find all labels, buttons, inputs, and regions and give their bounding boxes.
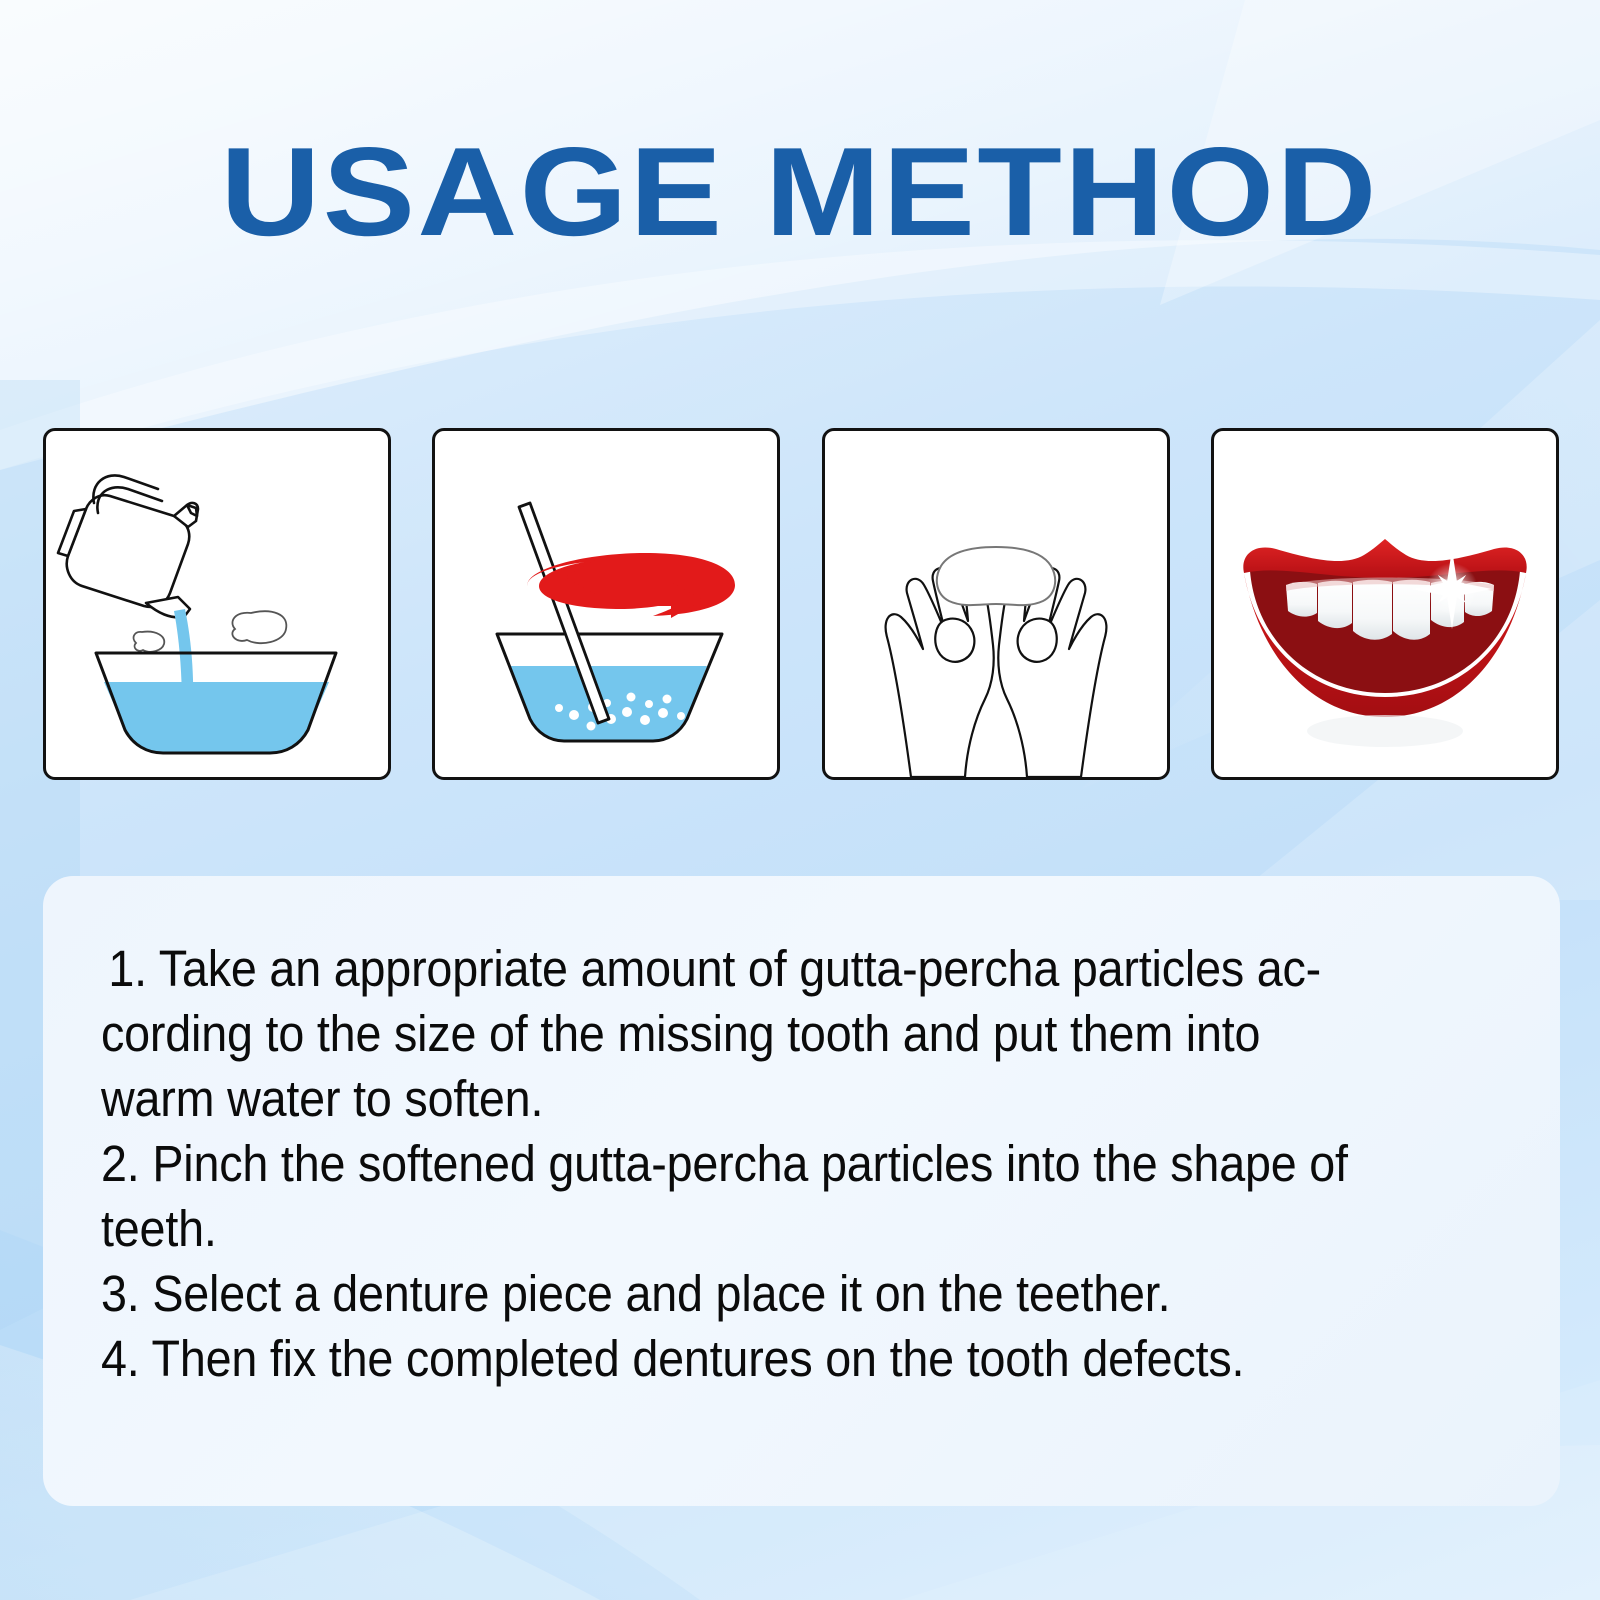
instruction-line-7: 4. Then fix the completed dentures on th… bbox=[101, 1326, 1510, 1391]
left-thumb bbox=[935, 619, 974, 662]
step-panel-1 bbox=[43, 428, 391, 780]
smiling-mouth-with-teeth-icon bbox=[1214, 431, 1556, 777]
instructions-card: 1. Take an appropriate amount of gutta-p… bbox=[43, 876, 1560, 1506]
usage-method-infographic: USAGE METHOD bbox=[0, 0, 1600, 1600]
right-thumb bbox=[1017, 619, 1056, 662]
steam-puff-right bbox=[232, 611, 286, 643]
instruction-line-2: cording to the size of the missing tooth… bbox=[101, 1001, 1510, 1066]
steam-puff-left bbox=[134, 632, 165, 652]
step-panel-4 bbox=[1211, 428, 1559, 780]
instruction-line-3: warm water to soften. bbox=[101, 1066, 1510, 1131]
kettle-pouring-water-into-bowl-icon bbox=[46, 431, 388, 777]
instruction-line-6: 3. Select a denture piece and place it o… bbox=[101, 1261, 1510, 1326]
instruction-line-4: 2. Pinch the softened gutta-percha parti… bbox=[101, 1131, 1510, 1196]
hands-shaping-denture-icon bbox=[825, 431, 1167, 777]
denture-piece bbox=[936, 547, 1054, 605]
instructions-text: 1. Take an appropriate amount of gutta-p… bbox=[101, 936, 1510, 1391]
stirring-rod-in-bowl-icon bbox=[435, 431, 777, 777]
bowl-water bbox=[104, 682, 329, 753]
step-panel-2 bbox=[432, 428, 780, 780]
page-title: USAGE METHOD bbox=[221, 128, 1379, 257]
instruction-line-1: 1. Take an appropriate amount of gutta-p… bbox=[101, 936, 1510, 1001]
step-panel-3 bbox=[822, 428, 1170, 780]
instruction-line-5: teeth. bbox=[101, 1196, 1510, 1261]
page-title-container: USAGE METHOD bbox=[0, 128, 1600, 257]
step-illustration-row bbox=[43, 428, 1559, 786]
